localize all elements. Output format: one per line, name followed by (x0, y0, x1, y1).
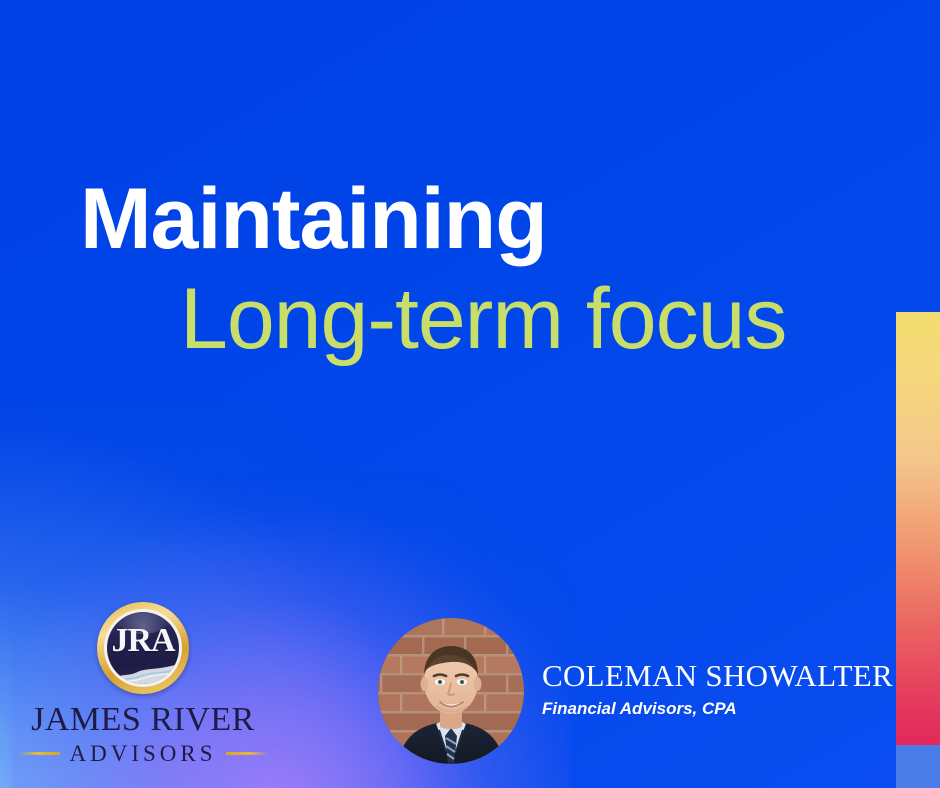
logo-wordmark: JAMES RIVER (14, 703, 272, 737)
headline: Maintaining Long-term focus (0, 176, 880, 363)
badge-monogram: JRA (107, 622, 179, 660)
jra-badge-icon: JRA (97, 602, 189, 694)
speaker-role: Financial Advisors, CPA (542, 700, 893, 719)
headline-line-secondary: Long-term focus (0, 276, 880, 364)
logo-rule-left-icon (18, 752, 60, 755)
logo-rule-right-icon (226, 752, 268, 755)
presentation-slide: Maintaining Long-term focus JRA JAMES RI… (0, 0, 940, 788)
headshot-image (378, 618, 524, 764)
logo-subwordmark: ADVISORS (69, 742, 216, 765)
james-river-advisors-logo: JRA JAMES RIVER ADVISORS (14, 602, 272, 765)
river-icon (107, 660, 179, 684)
speaker-name: COLEMAN SHOWALTER (542, 659, 893, 693)
speaker-headshot-avatar (378, 618, 524, 764)
headline-line-primary: Maintaining (0, 176, 880, 264)
accent-gradient-strip (896, 312, 940, 745)
badge-face: JRA (107, 612, 179, 684)
logo-subwordmark-row: ADVISORS (14, 742, 272, 765)
speaker-block: COLEMAN SHOWALTER Financial Advisors, CP… (378, 618, 893, 764)
speaker-text: COLEMAN SHOWALTER Financial Advisors, CP… (542, 659, 893, 723)
accent-strip-footer-block (896, 745, 940, 788)
